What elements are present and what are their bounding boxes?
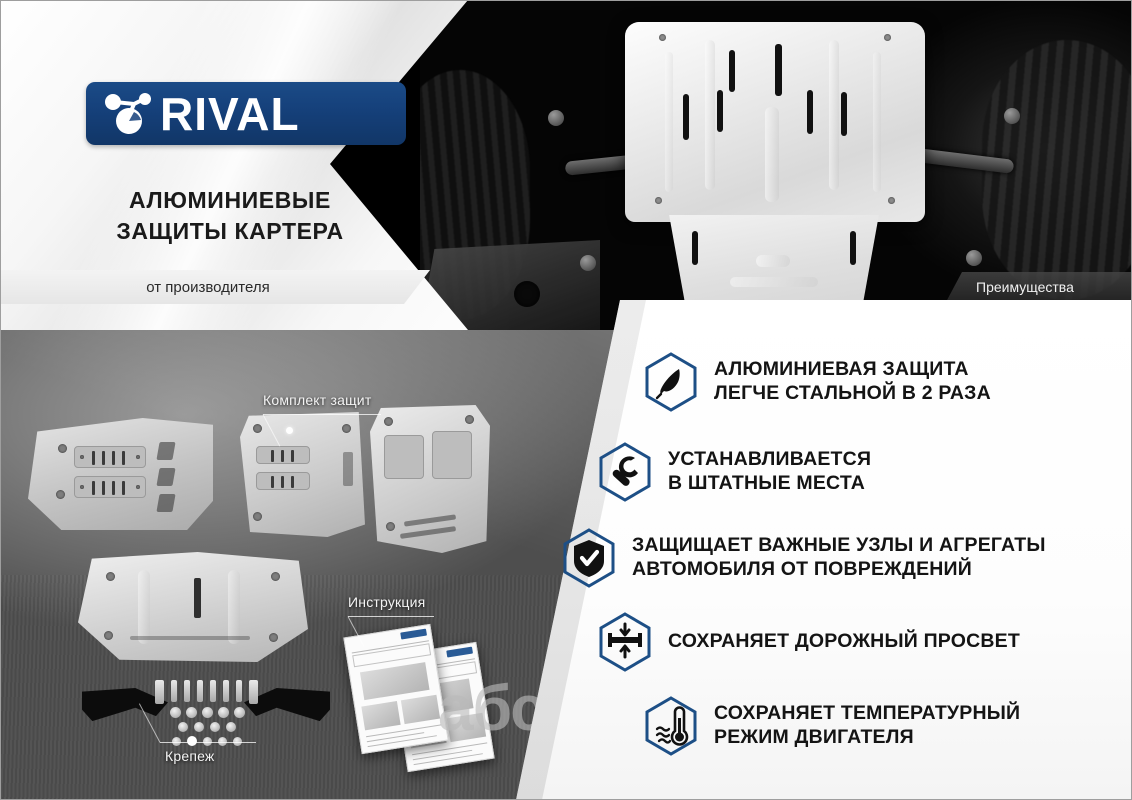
instruction-sheet-front <box>343 624 448 754</box>
benefit-text-5: СОХРАНЯЕТ ТЕМПЕРАТУРНЫЙ РЕЖИМ ДВИГАТЕЛЯ <box>714 702 1020 750</box>
benefit-item-4[interactable]: СОХРАНЯЕТ ДОРОЖНЫЙ ПРОСВЕТ <box>598 612 1020 672</box>
chassis-bolt <box>580 255 596 271</box>
callout-instruction-label: Инструкция <box>348 594 425 610</box>
benefit-item-5[interactable]: СОХРАНЯЕТ ТЕМПЕРАТУРНЫЙ РЕЖИМ ДВИГАТЕЛЯ <box>644 696 1020 756</box>
skid-plate-product-3 <box>370 405 490 553</box>
benefit-text-2: УСТАНАВЛИВАЕТСЯ В ШТАТНЫЕ МЕСТА <box>668 448 871 496</box>
molecule-icon <box>100 90 158 138</box>
shield-check-icon <box>562 528 616 588</box>
chassis-bolt <box>548 110 564 126</box>
rival-wordmark: RIVAL <box>160 91 300 137</box>
callout-kit-dot <box>286 427 293 434</box>
subtitle-band: от производителя <box>0 270 430 304</box>
ground-clearance-icon <box>598 612 652 672</box>
chassis-bolt <box>1004 108 1020 124</box>
callout-kit-rule <box>263 414 381 415</box>
benefit-text-4: СОХРАНЯЕТ ДОРОЖНЫЙ ПРОСВЕТ <box>668 630 1020 654</box>
benefits-list: АЛЮМИНИЕВАЯ ЗАЩИТА ЛЕГЧЕ СТАЛЬНОЙ В 2 РА… <box>516 300 1132 800</box>
skid-plate-product-2 <box>240 412 365 537</box>
advantages-tab-label: Преимущества <box>976 279 1074 295</box>
benefit-text-1: АЛЮМИНИЕВАЯ ЗАЩИТА ЛЕГЧЕ СТАЛЬНОЙ В 2 РА… <box>714 358 991 406</box>
wrench-icon <box>598 442 652 502</box>
page-title: АЛЮМИНИЕВЫЕ ЗАЩИТЫ КАРТЕРА <box>0 185 460 246</box>
rival-logo-badge[interactable]: RIVAL <box>86 82 406 145</box>
skid-plate-product-large <box>78 552 308 662</box>
instruction-documents <box>352 628 488 768</box>
installed-skid-plate-upper <box>625 22 925 222</box>
benefit-item-3[interactable]: ЗАЩИЩАЕТ ВАЖНЫЕ УЗЛЫ И АГРЕГАТЫ АВТОМОБИ… <box>562 528 1046 588</box>
callout-hardware-rule <box>160 742 256 743</box>
callout-instruction-rule <box>348 616 434 617</box>
callout-hardware-label: Крепеж <box>165 748 215 764</box>
page-title-line1: АЛЮМИНИЕВЫЕ <box>0 185 460 216</box>
skid-plate-product-1 <box>28 418 213 530</box>
thermometer-icon <box>644 696 698 756</box>
poster-root: RIVAL АЛЮМИНИЕВЫЕ ЗАЩИТЫ КАРТЕРА от прои… <box>0 0 1132 800</box>
benefit-item-1[interactable]: АЛЮМИНИЕВАЯ ЗАЩИТА ЛЕГЧЕ СТАЛЬНОЙ В 2 РА… <box>644 352 991 412</box>
chassis-bolt <box>966 250 982 266</box>
benefit-item-2[interactable]: УСТАНАВЛИВАЕТСЯ В ШТАТНЫЕ МЕСТА <box>598 442 871 502</box>
benefit-text-3: ЗАЩИЩАЕТ ВАЖНЫЕ УЗЛЫ И АГРЕГАТЫ АВТОМОБИ… <box>632 534 1046 582</box>
feather-icon <box>644 352 698 412</box>
subtitle-text: от производителя <box>146 279 283 296</box>
page-title-line2: ЗАЩИТЫ КАРТЕРА <box>0 216 460 247</box>
advantages-tab[interactable]: Преимущества <box>946 272 1132 302</box>
callout-kit-label: Комплект защит <box>263 392 371 408</box>
